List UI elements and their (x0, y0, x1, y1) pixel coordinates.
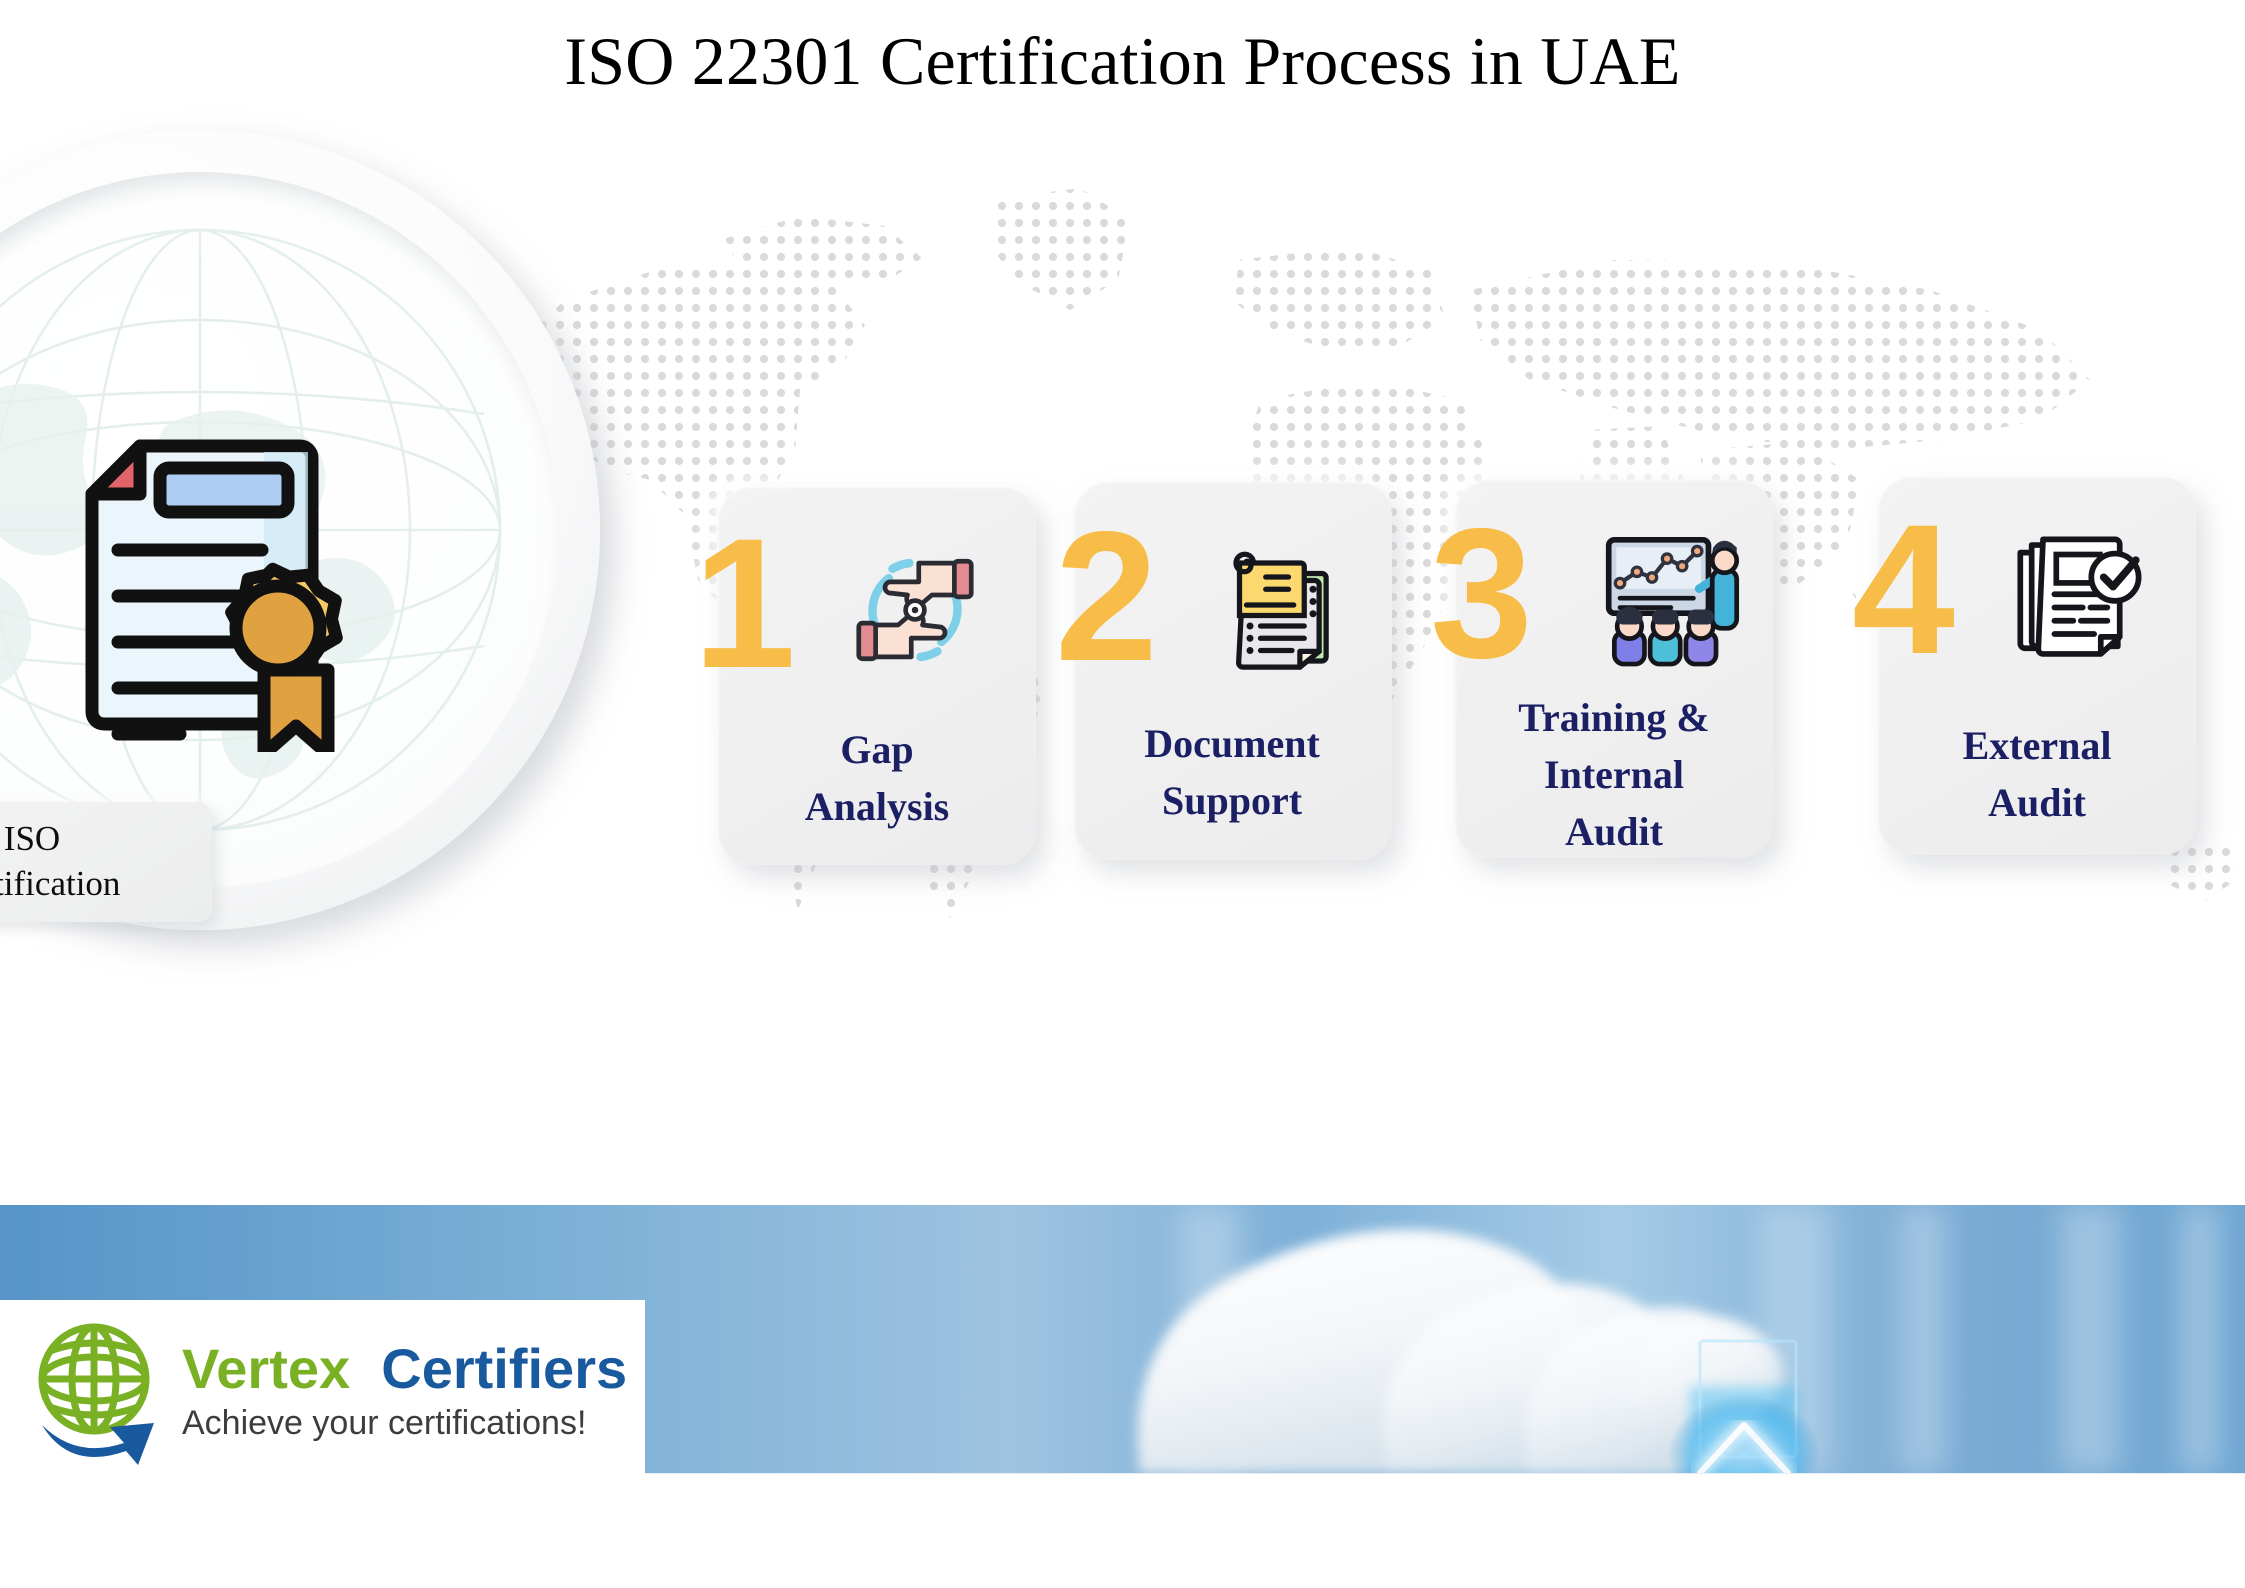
logo-tagline: Achieve your certifications! (182, 1405, 627, 1442)
step-label-2: Document Support (1062, 716, 1402, 830)
bottom-white-strip (0, 1473, 2245, 1588)
step-number-3: 3 (1430, 502, 1527, 687)
document-clipboard-icon (1208, 535, 1348, 675)
iso-label-line2: Certification (0, 864, 120, 905)
documents-check-icon (2003, 528, 2155, 670)
logo-word-certifiers: Certifiers (381, 1337, 627, 1400)
company-logo[interactable]: Vertex Certifiers Achieve your certifica… (0, 1300, 645, 1483)
step-label-1-line2: Analysis (718, 779, 1036, 836)
iso-certification-label: ISO Certification (0, 802, 212, 922)
vertex-globe-arrow-logo (24, 1317, 174, 1467)
step-label-1: Gap Analysis (718, 722, 1036, 836)
iso-certification-hero: ISO Certification (0, 130, 600, 930)
step-label-2-line2: Support (1062, 773, 1402, 830)
step-label-2-line1: Document (1062, 716, 1402, 773)
logo-word-vertex: Vertex (182, 1337, 350, 1400)
step-label-4-line2: Audit (1878, 775, 2196, 832)
globe-disc-inner (0, 172, 558, 888)
page-title: ISO 22301 Certification Process in UAE (0, 22, 2245, 101)
step-label-4: External Audit (1878, 718, 2196, 832)
training-presentation-icon (1588, 530, 1748, 672)
step-label-4-line1: External (1878, 718, 2196, 775)
step-label-3: Training & Internal Audit (1455, 690, 1773, 860)
partnership-hands-icon (840, 535, 990, 685)
step-label-3-line1: Training & (1455, 690, 1773, 747)
step-number-1: 1 (693, 512, 790, 697)
step-label-3-line2: Internal (1455, 747, 1773, 804)
step-number-2: 2 (1055, 505, 1152, 690)
iso-label-line1: ISO (4, 819, 60, 860)
step-label-3-line3: Audit (1455, 804, 1773, 861)
logo-text-block: Vertex Certifiers Achieve your certifica… (182, 1340, 627, 1442)
infographic-canvas: ISO 22301 Certification Process in UAE (0, 0, 2245, 1205)
certificate-document-icon (32, 422, 362, 752)
step-label-1-line1: Gap (718, 722, 1036, 779)
step-number-4: 4 (1852, 498, 1949, 683)
